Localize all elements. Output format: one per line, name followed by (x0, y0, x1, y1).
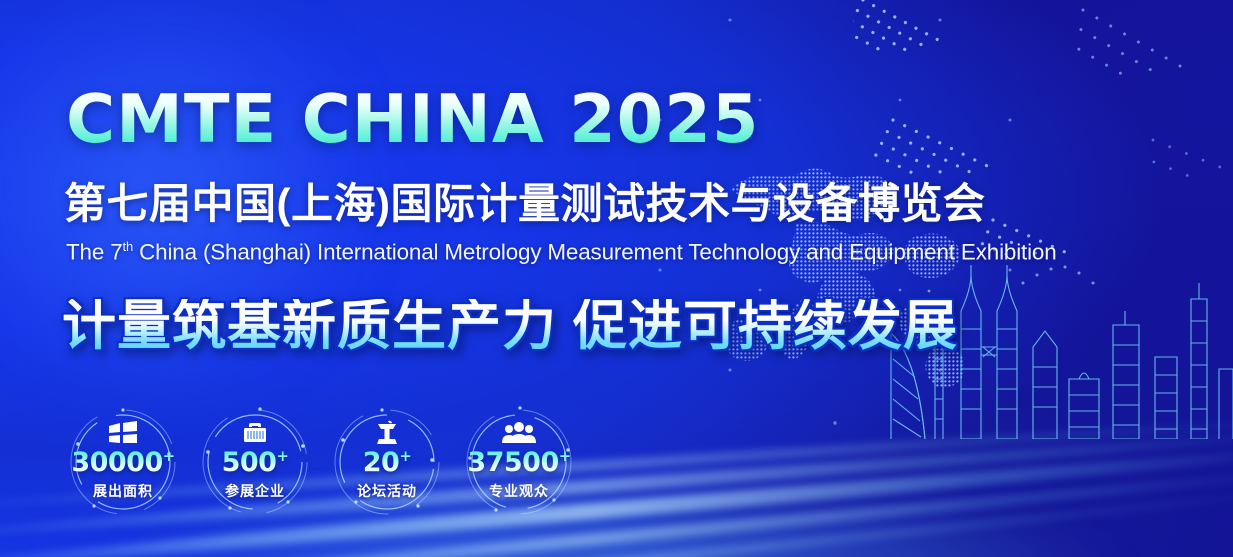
page-title: CMTE CHINA 2025 (66, 86, 760, 153)
stat-badge-exhibitors: 500+ 参展企业 (196, 406, 314, 518)
stats-group: 30000+ 展出面积 (64, 406, 578, 518)
stat-label: 展出面积 (93, 481, 153, 501)
ordinal-suffix: th (123, 239, 134, 254)
subtitle-english-pre: The 7 (66, 239, 123, 264)
event-slogan: 计量筑基新质生产力 促进可持续发展 (62, 299, 958, 353)
stat-value: 30000+ (71, 449, 174, 476)
stat-value: 20+ (363, 449, 412, 476)
stat-badge-visitors: 37500+ 专业观众 (460, 406, 578, 518)
subtitle-chinese: 第七届中国(上海)国际计量测试技术与设备博览会 (64, 183, 985, 225)
stat-value: 37500+ (467, 449, 570, 476)
stat-label: 参展企业 (225, 481, 285, 501)
banner-content: CMTE CHINA 2025 第七届中国(上海)国际计量测试技术与设备博览会 … (0, 0, 1233, 557)
stat-badge-forums: 20+ 论坛活动 (328, 406, 446, 518)
event-banner: CMTE CHINA 2025 第七届中国(上海)国际计量测试技术与设备博览会 … (0, 0, 1233, 557)
exhibition-grid-icon (103, 419, 143, 446)
podium-icon (367, 419, 407, 446)
stat-label: 专业观众 (489, 481, 549, 501)
stat-badge-exhibition-area: 30000+ 展出面积 (64, 406, 182, 518)
stat-label: 论坛活动 (357, 481, 417, 501)
briefcase-icon (235, 419, 275, 446)
subtitle-english-post: China (Shanghai) International Metrology… (133, 239, 1056, 264)
people-group-icon (499, 419, 539, 446)
stat-value: 500+ (222, 449, 289, 476)
subtitle-english: The 7th China (Shanghai) International M… (66, 240, 1057, 264)
